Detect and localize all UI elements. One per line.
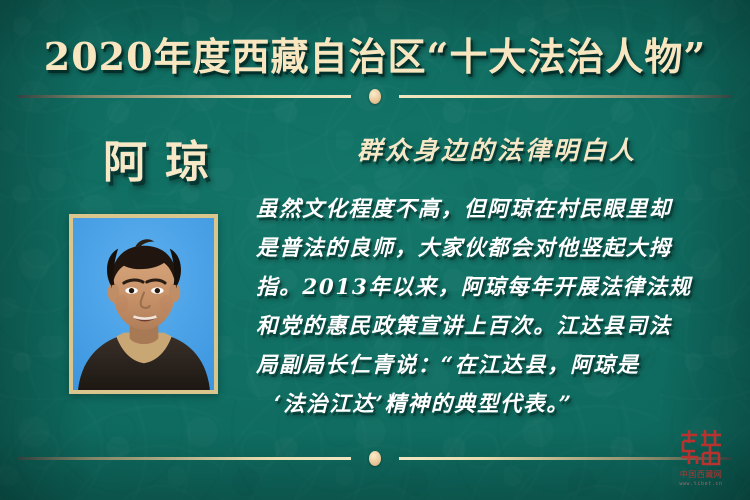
portrait-photo: [69, 214, 218, 394]
site-logo: 中国西藏网 www.tibet.cn: [666, 427, 736, 488]
body-line: 指。2013年以来，阿琼每年开展法律法规: [256, 268, 740, 307]
divider-top: [18, 90, 732, 102]
divider-dot-icon: [369, 89, 381, 104]
body-line: 是普法的良师，大家伙都会对他竖起大拇: [256, 229, 740, 268]
seal-logo-icon: [677, 427, 725, 467]
divider-bottom: [18, 452, 732, 464]
portrait-illustration: [73, 218, 214, 390]
body-line: ‘法治江达’精神的典型代表。”: [256, 385, 740, 424]
divider-line-right: [399, 95, 732, 98]
person-name: 阿琼: [56, 126, 256, 190]
page-title: 2020年度西藏自治区“十大法治人物”: [0, 26, 750, 81]
divider-line-left: [18, 95, 351, 98]
subtitle: 群众身边的法律明白人: [258, 131, 736, 167]
poster-canvas: 2020年度西藏自治区“十大法治人物” 阿琼: [0, 0, 750, 500]
divider-line-left: [18, 457, 351, 460]
seal-logo-glyph: [677, 427, 725, 467]
body-line: 局副局长仁青说：“在江达县，阿琼是: [256, 346, 740, 385]
logo-site-url: www.tibet.cn: [666, 480, 736, 488]
body-line: 虽然文化程度不高，但阿琼在村民眼里却: [256, 190, 740, 229]
body-text: 虽然文化程度不高，但阿琼在村民眼里却 是普法的良师，大家伙都会对他竖起大拇 指。…: [256, 190, 740, 424]
divider-dot-icon: [369, 451, 381, 466]
body-line: 和党的惠民政策宣讲上百次。江达县司法: [256, 307, 740, 346]
logo-site-name: 中国西藏网: [666, 470, 736, 480]
